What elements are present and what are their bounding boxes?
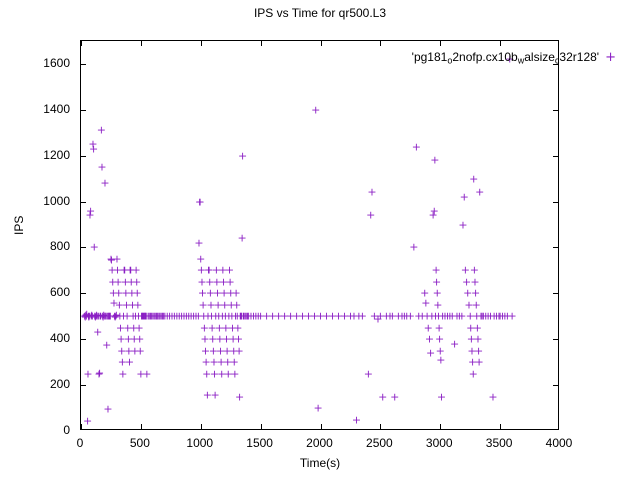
data-point: + <box>184 311 193 322</box>
data-point: + <box>310 311 319 322</box>
data-point: + <box>102 339 111 350</box>
data-point: + <box>424 322 433 333</box>
data-point: + <box>104 311 113 322</box>
data-point: + <box>461 265 470 276</box>
data-point: + <box>244 311 253 322</box>
data-point: + <box>97 162 106 173</box>
data-point: + <box>202 357 211 368</box>
data-point: + <box>479 311 488 322</box>
data-point: + <box>484 311 493 322</box>
data-point: + <box>159 311 168 322</box>
data-point: + <box>89 143 98 154</box>
data-point: + <box>167 311 176 322</box>
data-point: + <box>445 311 454 322</box>
legend-marker-icon: + <box>605 50 616 65</box>
data-point: + <box>473 334 482 345</box>
data-point: + <box>191 311 200 322</box>
data-point: + <box>137 311 146 322</box>
chart-container: IPS vs Time for qr500.L3 IPS Time(s) 020… <box>0 0 640 480</box>
data-point: + <box>103 311 112 322</box>
data-point: + <box>421 297 430 308</box>
data-point: + <box>194 311 203 322</box>
data-point: + <box>140 311 149 322</box>
data-point: + <box>234 334 243 345</box>
data-point: + <box>109 288 118 299</box>
data-point: + <box>111 311 120 322</box>
data-point: + <box>212 265 221 276</box>
data-point: + <box>115 311 124 322</box>
data-point: + <box>215 322 224 333</box>
x-tick-mark <box>141 424 142 429</box>
data-point: + <box>194 237 203 248</box>
data-point: + <box>122 311 131 322</box>
data-point: + <box>249 311 258 322</box>
data-point: + <box>367 187 376 198</box>
legend-label-mid1: 2nofp.cx10b <box>452 50 517 64</box>
data-point: + <box>153 311 162 322</box>
data-point: + <box>202 368 211 379</box>
data-point: + <box>138 311 147 322</box>
data-point: + <box>256 311 265 322</box>
data-point: + <box>334 311 343 322</box>
data-point: + <box>206 288 215 299</box>
data-point: + <box>128 299 137 310</box>
data-point: + <box>134 322 143 333</box>
data-point: + <box>455 311 464 322</box>
data-point: + <box>426 348 435 359</box>
data-point: + <box>196 253 205 264</box>
data-point: + <box>106 311 115 322</box>
data-point: + <box>124 345 133 356</box>
data-point: + <box>280 311 289 322</box>
data-point: + <box>490 311 499 322</box>
data-point: + <box>467 345 476 356</box>
data-point: + <box>120 265 129 276</box>
data-point: + <box>227 299 236 310</box>
x-tick-mark <box>440 41 441 46</box>
data-point: + <box>85 311 94 322</box>
data-point: + <box>433 288 442 299</box>
data-point: + <box>450 338 459 349</box>
data-point: + <box>237 311 246 322</box>
data-point: + <box>440 311 449 322</box>
data-point: + <box>475 187 484 198</box>
data-point: + <box>209 345 218 356</box>
data-point: + <box>208 334 217 345</box>
data-point: + <box>222 345 231 356</box>
data-point: + <box>114 288 123 299</box>
data-point: + <box>108 276 117 287</box>
data-point: + <box>84 311 93 322</box>
data-point: + <box>358 311 367 322</box>
data-point: + <box>200 322 209 333</box>
data-point: + <box>127 276 136 287</box>
x-tick-mark <box>500 424 501 429</box>
data-point: + <box>457 311 466 322</box>
data-point: + <box>126 265 135 276</box>
data-point: + <box>469 173 478 184</box>
data-point: + <box>220 299 229 310</box>
x-tick-label: 2000 <box>290 436 350 450</box>
data-point: + <box>366 210 375 221</box>
data-point: + <box>98 311 107 322</box>
data-point: + <box>133 288 142 299</box>
data-point: + <box>195 196 204 207</box>
legend-label-mid2: alsize <box>524 50 555 64</box>
data-point: + <box>206 299 215 310</box>
data-point: + <box>226 288 235 299</box>
data-point: + <box>475 357 484 368</box>
data-point: + <box>114 276 123 287</box>
data-point: + <box>142 311 151 322</box>
x-tick-label: 4000 <box>529 436 589 450</box>
data-point: + <box>199 311 208 322</box>
data-point: + <box>235 391 244 402</box>
x-tick-mark <box>201 424 202 429</box>
data-point: + <box>128 311 137 322</box>
data-point: + <box>254 311 263 322</box>
y-tick-label: 600 <box>8 285 70 299</box>
y-tick-mark <box>81 64 86 65</box>
data-point: + <box>131 265 140 276</box>
data-point: + <box>111 312 120 323</box>
data-point: + <box>409 242 418 253</box>
data-point: + <box>215 334 224 345</box>
data-point: + <box>346 311 355 322</box>
data-point: + <box>228 322 237 333</box>
data-point: + <box>81 312 90 323</box>
data-point: + <box>163 311 172 322</box>
y-tick-mark <box>553 202 558 203</box>
data-point: + <box>468 357 477 368</box>
x-tick-mark <box>380 41 381 46</box>
y-tick-mark <box>553 247 558 248</box>
data-point: + <box>147 311 156 322</box>
data-point: + <box>233 311 242 322</box>
data-point: + <box>205 265 214 276</box>
data-point: + <box>172 311 181 322</box>
x-tick-mark <box>261 424 262 429</box>
data-point: + <box>352 414 361 425</box>
data-point: + <box>154 311 163 322</box>
data-point: + <box>90 242 99 253</box>
data-point: + <box>474 345 483 356</box>
data-point: + <box>438 311 447 322</box>
data-point: + <box>436 345 445 356</box>
y-tick-mark <box>81 339 86 340</box>
data-point: + <box>136 345 145 356</box>
data-point: + <box>322 311 331 322</box>
data-point: + <box>148 311 157 322</box>
data-point: + <box>328 311 337 322</box>
data-point: + <box>481 311 490 322</box>
data-point: + <box>430 155 439 166</box>
data-point: + <box>422 311 431 322</box>
x-tick-mark <box>81 41 82 46</box>
data-point: + <box>373 313 382 324</box>
data-point: + <box>132 276 141 287</box>
data-point: + <box>428 210 437 221</box>
data-point: + <box>199 299 208 310</box>
x-tick-label: 3000 <box>409 436 469 450</box>
y-tick-mark <box>81 156 86 157</box>
data-point: + <box>240 311 249 322</box>
data-point: + <box>466 322 475 333</box>
x-tick-mark <box>380 424 381 429</box>
data-point: + <box>105 311 114 322</box>
data-point: + <box>470 276 479 287</box>
data-point: + <box>458 219 467 230</box>
data-point: + <box>388 311 397 322</box>
data-point: + <box>225 265 234 276</box>
data-point: + <box>142 368 151 379</box>
data-point: + <box>434 311 443 322</box>
data-point: + <box>82 309 91 320</box>
data-point: + <box>431 265 440 276</box>
data-point: + <box>218 265 227 276</box>
data-point: + <box>149 311 158 322</box>
data-point: + <box>216 345 225 356</box>
data-point: + <box>102 311 111 322</box>
y-tick-label: 200 <box>8 377 70 391</box>
x-tick-label: 1500 <box>230 436 290 450</box>
data-point: + <box>431 311 440 322</box>
data-point: + <box>146 311 155 322</box>
data-point: + <box>158 311 167 322</box>
data-point: + <box>216 357 225 368</box>
data-point: + <box>143 311 152 322</box>
data-point: + <box>81 310 90 321</box>
data-point: + <box>212 276 221 287</box>
y-tick-mark <box>553 293 558 294</box>
legend-quote-close: ' <box>597 50 599 64</box>
data-point: + <box>443 311 452 322</box>
data-point: + <box>91 312 100 323</box>
data-point: + <box>394 311 403 322</box>
data-point: + <box>203 390 212 401</box>
data-point: + <box>85 210 94 221</box>
data-point: + <box>157 311 166 322</box>
y-tick-mark <box>81 293 86 294</box>
data-point: + <box>197 265 206 276</box>
data-point: + <box>463 288 472 299</box>
data-point: + <box>492 311 501 322</box>
data-point: + <box>224 311 233 322</box>
data-point: + <box>385 311 394 322</box>
data-point: + <box>124 334 133 345</box>
y-tick-label: 1000 <box>8 194 70 208</box>
data-point: + <box>418 311 427 322</box>
data-point: + <box>378 391 387 402</box>
data-point: + <box>214 311 223 322</box>
data-point: + <box>113 265 122 276</box>
data-point: + <box>236 311 245 322</box>
data-point: + <box>472 299 481 310</box>
data-point: + <box>84 312 93 323</box>
data-point: + <box>234 345 243 356</box>
data-point: + <box>243 311 252 322</box>
data-point: + <box>231 311 240 322</box>
data-point: + <box>370 311 379 322</box>
data-point: + <box>179 311 188 322</box>
x-tick-label: 2500 <box>349 436 409 450</box>
y-tick-label: 1200 <box>8 148 70 162</box>
data-point: + <box>213 288 222 299</box>
data-point: + <box>200 334 209 345</box>
data-point: + <box>214 299 223 310</box>
data-point: + <box>82 311 91 322</box>
data-point: + <box>96 311 105 322</box>
x-tick-mark <box>261 41 262 46</box>
data-point: + <box>430 205 439 216</box>
data-point: + <box>230 357 239 368</box>
data-point: + <box>90 311 99 322</box>
data-point: + <box>503 311 512 322</box>
x-tick-mark <box>81 424 82 429</box>
data-point: + <box>145 311 154 322</box>
data-point: + <box>106 253 115 264</box>
data-point: + <box>94 368 103 379</box>
data-point: + <box>311 104 320 115</box>
data-point: + <box>233 322 242 333</box>
data-point: + <box>139 311 148 322</box>
data-point: + <box>219 276 228 287</box>
data-point: + <box>500 311 509 322</box>
data-point: + <box>182 311 191 322</box>
data-point: + <box>136 368 145 379</box>
data-point: + <box>412 141 421 152</box>
data-point: + <box>460 192 469 203</box>
data-point: + <box>382 311 391 322</box>
data-point: + <box>99 310 108 321</box>
data-point: + <box>478 311 487 322</box>
data-point: + <box>123 322 132 333</box>
x-tick-mark <box>500 41 501 46</box>
x-tick-label: 1000 <box>170 436 230 450</box>
data-point: + <box>238 150 247 161</box>
data-point: + <box>507 311 516 322</box>
y-tick-mark <box>81 247 86 248</box>
data-point: + <box>127 288 136 299</box>
data-point: + <box>467 334 476 345</box>
data-point: + <box>187 311 196 322</box>
data-point: + <box>224 368 233 379</box>
data-point: + <box>135 334 144 345</box>
data-point: + <box>242 311 251 322</box>
data-point: + <box>462 276 471 287</box>
data-point: + <box>304 311 313 322</box>
x-tick-mark <box>321 424 322 429</box>
legend-label-suffix: 32r128 <box>559 50 596 64</box>
data-point: + <box>400 311 409 322</box>
data-point: + <box>209 357 218 368</box>
data-point: + <box>87 311 96 322</box>
data-point: + <box>292 311 301 322</box>
data-point: + <box>116 322 125 333</box>
data-point: + <box>118 357 127 368</box>
data-point: + <box>494 311 503 322</box>
data-point: + <box>432 276 441 287</box>
data-point: + <box>112 253 121 264</box>
data-point: + <box>83 368 92 379</box>
data-point: + <box>298 311 307 322</box>
data-point: + <box>165 311 174 322</box>
data-point: + <box>425 334 434 345</box>
data-point: + <box>101 311 110 322</box>
y-tick-label: 800 <box>8 239 70 253</box>
data-point: + <box>133 299 142 310</box>
data-point: + <box>110 311 119 322</box>
data-point: + <box>121 288 130 299</box>
data-point: + <box>210 368 219 379</box>
y-tick-mark <box>553 385 558 386</box>
y-tick-label: 400 <box>8 331 70 345</box>
data-point: + <box>434 322 443 333</box>
data-point: + <box>203 311 212 322</box>
data-point: + <box>230 368 239 379</box>
data-point: + <box>239 311 248 322</box>
data-point: + <box>476 311 485 322</box>
data-point: + <box>208 322 217 333</box>
data-point: + <box>120 265 129 276</box>
x-tick-label: 0 <box>50 436 110 450</box>
data-point: + <box>117 334 126 345</box>
data-point: + <box>100 178 109 189</box>
data-point: + <box>448 311 457 322</box>
data-point: + <box>109 297 118 308</box>
data-point: + <box>349 311 358 322</box>
x-axis-label: Time(s) <box>0 456 640 470</box>
data-point: + <box>108 265 117 276</box>
data-point: + <box>87 310 96 321</box>
data-point: + <box>274 311 283 322</box>
y-axis-label: IPS <box>12 216 26 235</box>
data-point: + <box>231 288 240 299</box>
data-point: + <box>140 311 149 322</box>
x-tick-label: 500 <box>110 436 170 450</box>
data-point: + <box>141 311 150 322</box>
data-point: + <box>115 299 124 310</box>
data-point: + <box>139 311 148 322</box>
data-point: + <box>236 311 245 322</box>
data-point: + <box>222 334 231 345</box>
y-tick-label: 1600 <box>8 56 70 70</box>
data-point: + <box>112 310 121 321</box>
y-tick-mark <box>81 110 86 111</box>
data-point: + <box>189 311 198 322</box>
data-point: + <box>86 205 95 216</box>
data-point: + <box>364 368 373 379</box>
data-point: + <box>152 311 161 322</box>
data-point: + <box>95 367 104 378</box>
chart-title: IPS vs Time for qr500.L3 <box>0 6 640 20</box>
data-point: + <box>246 311 255 322</box>
data-point: + <box>121 276 130 287</box>
data-point: + <box>390 391 399 402</box>
y-tick-label: 0 <box>8 423 70 437</box>
data-point: + <box>498 311 507 322</box>
data-point: + <box>313 403 322 414</box>
data-point: + <box>221 322 230 333</box>
data-point: + <box>316 311 325 322</box>
data-point: + <box>262 311 271 322</box>
data-point: + <box>93 311 102 322</box>
data-point: + <box>125 265 134 276</box>
data-point: + <box>160 311 169 322</box>
data-point: + <box>473 322 482 333</box>
data-point: + <box>223 357 232 368</box>
data-point: + <box>420 288 429 299</box>
